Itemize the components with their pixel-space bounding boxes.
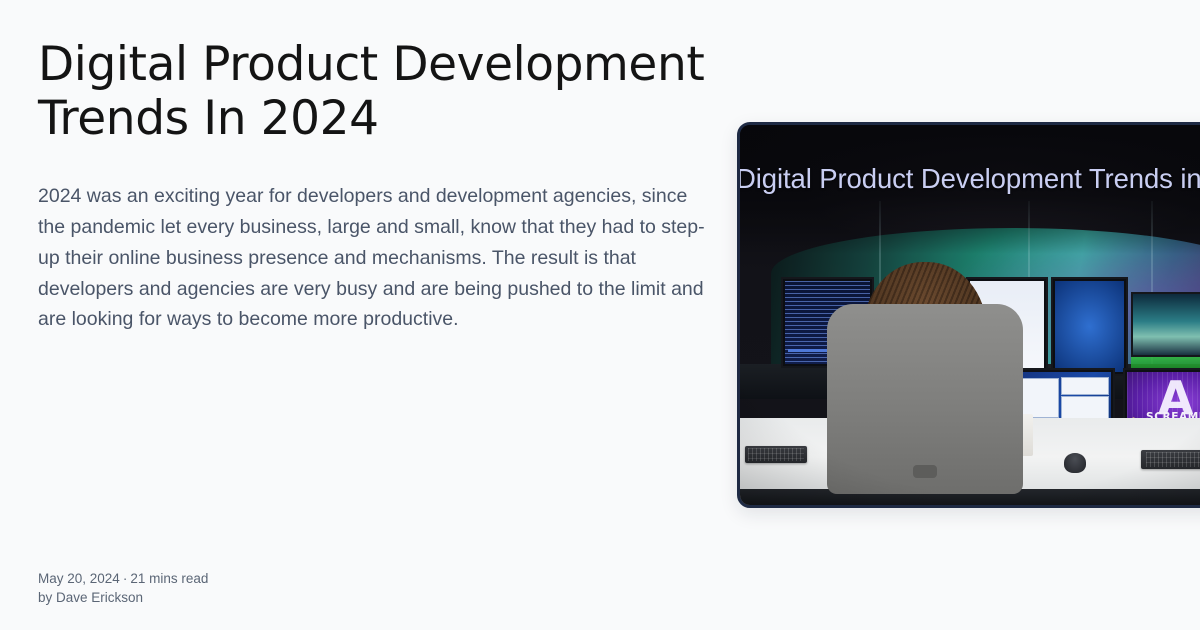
page-title: Digital Product Development Trends In 20…	[38, 38, 710, 145]
meta-separator: ·	[120, 571, 131, 586]
article-text-column: Digital Product Development Trends In 20…	[38, 38, 710, 335]
office-chair	[827, 304, 1022, 494]
read-time: 21 mins read	[130, 571, 208, 586]
monitor-screen	[1055, 281, 1124, 372]
article-meta: May 20, 2024·21 mins read by Dave Ericks…	[38, 569, 208, 607]
window-panel	[1061, 377, 1109, 396]
publish-date: May 20, 2024	[38, 571, 120, 586]
hero-overlay-headline: Digital Product Development Trends in 20	[740, 163, 1200, 195]
keyboard-keys	[1146, 452, 1200, 466]
hero-image-card[interactable]: AI SCREAMINGBOX DIGITAL PRODUCT DEVELOPM…	[737, 122, 1200, 508]
monitor-landscape-display	[1131, 292, 1200, 357]
keyboard-left	[745, 446, 807, 463]
keyboard-keys	[748, 448, 804, 461]
author-byline: by Dave Erickson	[38, 588, 208, 607]
hero-photo: AI SCREAMINGBOX DIGITAL PRODUCT DEVELOPM…	[740, 125, 1200, 505]
article-excerpt: 2024 was an exciting year for developers…	[38, 145, 706, 335]
keyboard-right	[1141, 450, 1200, 469]
computer-mouse	[1064, 453, 1087, 473]
chair-notch	[913, 465, 936, 478]
meta-date-readtime: May 20, 2024·21 mins read	[38, 569, 208, 588]
monitor-blue-display	[1051, 277, 1128, 376]
